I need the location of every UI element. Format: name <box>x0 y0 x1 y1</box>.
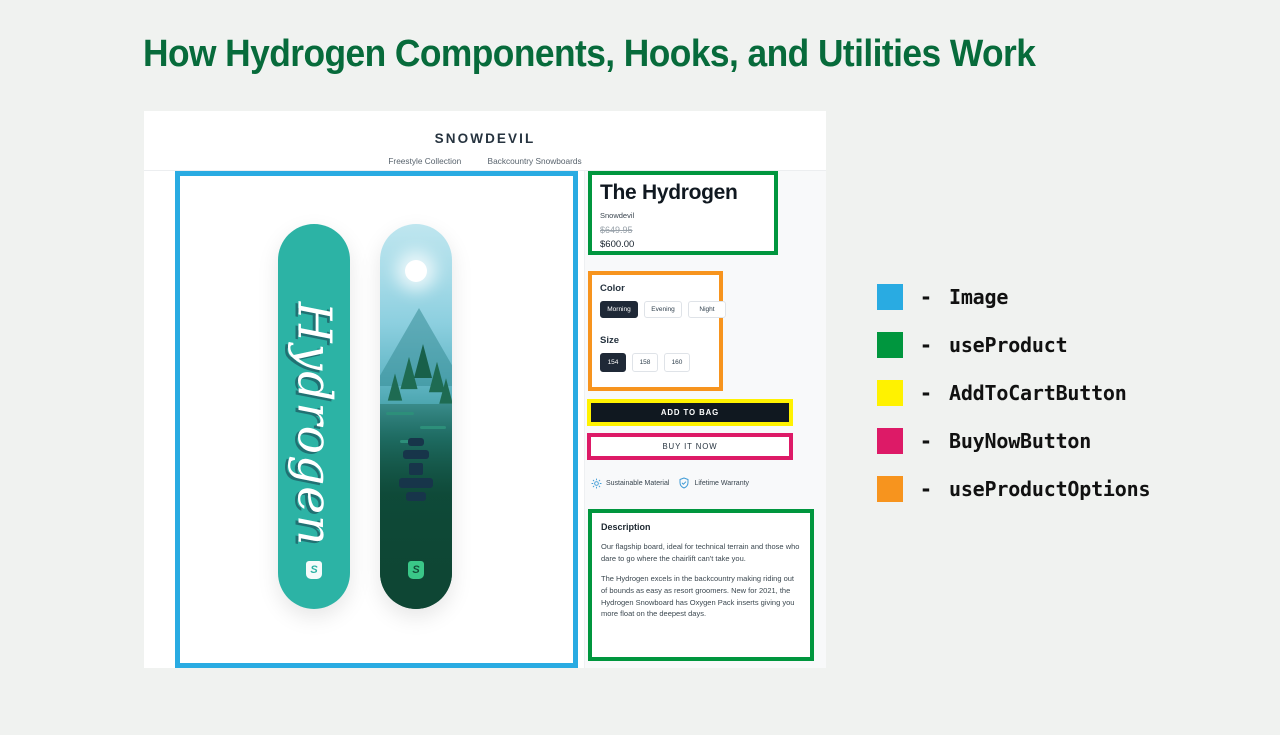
product-info-column: The Hydrogen Snowdevil $649.95 $600.00 C… <box>584 171 826 668</box>
color-option-group[interactable]: Morning Evening Night <box>600 301 726 318</box>
snowboard-graphic-left: Hydrogen <box>278 224 350 609</box>
buy-now-button-region: BUY IT NOW <box>587 433 793 460</box>
legend-dash: - <box>903 381 949 405</box>
product-description-region: Description Our flagship board, ideal fo… <box>588 509 814 661</box>
legend-item-use-product-options: - useProductOptions <box>877 465 1150 513</box>
legend-color-swatch <box>877 380 903 406</box>
use-product-options-region: Color Morning Evening Night Size 154 158… <box>588 271 723 391</box>
product-image[interactable]: Hydrogen <box>180 176 573 663</box>
legend-label: useProduct <box>949 333 1067 357</box>
size-option-group[interactable]: 154 158 160 <box>600 353 690 372</box>
legend-label: AddToCartButton <box>949 381 1127 405</box>
page-title: How Hydrogen Components, Hooks, and Util… <box>143 33 1073 76</box>
buy-it-now-button[interactable]: BUY IT NOW <box>591 437 789 456</box>
storefront-screenshot-card: SNOWDEVIL Freestyle Collection Backcount… <box>144 111 826 668</box>
shopify-bag-icon <box>306 561 322 579</box>
pine-tree-icon <box>439 378 452 404</box>
product-vendor: Snowdevil <box>600 211 634 220</box>
snowboard-graphic-right <box>380 224 452 609</box>
legend-label: useProductOptions <box>949 477 1150 501</box>
totem-block <box>408 438 424 446</box>
legend-dash: - <box>903 285 949 309</box>
size-option-160[interactable]: 160 <box>664 353 690 372</box>
totem-block <box>399 478 433 488</box>
legend: - Image - useProduct - AddToCartButton -… <box>877 273 1150 513</box>
store-nav: Freestyle Collection Backcountry Snowboa… <box>144 156 826 166</box>
legend-color-swatch <box>877 476 903 502</box>
nav-item-freestyle-collection[interactable]: Freestyle Collection <box>388 156 461 166</box>
screenshot-root: How Hydrogen Components, Hooks, and Util… <box>0 0 1280 735</box>
badge-label: Sustainable Material <box>606 480 669 487</box>
product-image-region[interactable]: Hydrogen <box>175 171 578 668</box>
size-option-158[interactable]: 158 <box>632 353 658 372</box>
legend-item-use-product: - useProduct <box>877 321 1150 369</box>
sun-icon <box>591 478 602 489</box>
legend-color-swatch <box>877 428 903 454</box>
decor-bar <box>386 412 414 415</box>
color-option-label: Color <box>600 283 625 294</box>
product-title: The Hydrogen <box>600 181 738 205</box>
legend-color-swatch <box>877 284 903 310</box>
totem-block <box>406 492 426 501</box>
legend-item-image: - Image <box>877 273 1150 321</box>
legend-dash: - <box>903 333 949 357</box>
description-paragraph: Our flagship board, ideal for technical … <box>601 541 801 564</box>
product-compare-at-price: $649.95 <box>600 225 633 235</box>
totem-block <box>409 463 423 475</box>
legend-item-add-to-cart-button: - AddToCartButton <box>877 369 1150 417</box>
use-product-region: The Hydrogen Snowdevil $649.95 $600.00 <box>588 171 778 255</box>
size-option-label: Size <box>600 335 619 346</box>
shield-check-icon <box>678 477 690 489</box>
badge-label: Lifetime Warranty <box>694 480 749 487</box>
store-header: SNOWDEVIL Freestyle Collection Backcount… <box>144 111 826 171</box>
store-name: SNOWDEVIL <box>144 131 826 146</box>
shopify-bag-icon <box>408 561 424 579</box>
product-price: $600.00 <box>600 239 634 250</box>
color-option-evening[interactable]: Evening <box>644 301 682 318</box>
add-to-cart-button-region: ADD TO BAG <box>587 399 793 426</box>
legend-label: Image <box>949 285 1008 309</box>
legend-color-swatch <box>877 332 903 358</box>
color-option-morning[interactable]: Morning <box>600 301 638 318</box>
totem-block <box>403 450 429 459</box>
product-badges: Sustainable Material Lifetime Warranty <box>591 477 749 489</box>
legend-dash: - <box>903 477 949 501</box>
badge-lifetime-warranty: Lifetime Warranty <box>678 477 749 489</box>
color-option-night[interactable]: Night <box>688 301 726 318</box>
description-paragraph: The Hydrogen excels in the backcountry m… <box>601 573 801 620</box>
size-option-154[interactable]: 154 <box>600 353 626 372</box>
legend-dash: - <box>903 429 949 453</box>
nav-item-backcountry-snowboards[interactable]: Backcountry Snowboards <box>488 156 582 166</box>
add-to-bag-button[interactable]: ADD TO BAG <box>591 403 789 422</box>
description-heading: Description <box>601 522 651 532</box>
badge-sustainable-material: Sustainable Material <box>591 478 669 489</box>
description-body: Our flagship board, ideal for technical … <box>601 541 801 620</box>
legend-label: BuyNowButton <box>949 429 1091 453</box>
hydrogen-script-text: Hydrogen <box>287 302 342 547</box>
decor-bar <box>420 426 446 429</box>
legend-item-buy-now-button: - BuyNowButton <box>877 417 1150 465</box>
sun-icon <box>405 260 427 282</box>
product-body: Hydrogen <box>144 171 826 668</box>
